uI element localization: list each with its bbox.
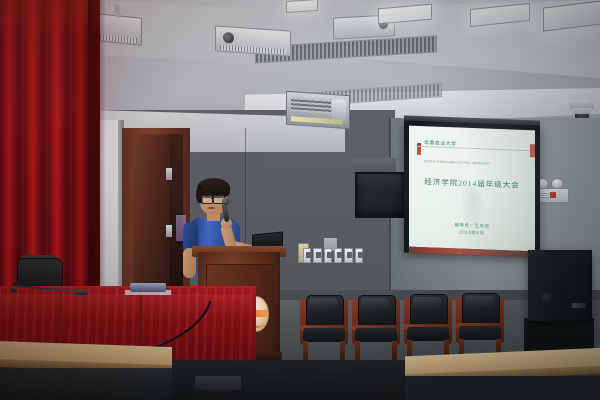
audience-desk-left-body — [0, 368, 172, 400]
floor-equipment-box — [195, 376, 241, 390]
chair-sheen — [361, 298, 389, 310]
list-item[interactable] — [300, 295, 348, 365]
emergency-indicator-icon — [550, 192, 556, 198]
chair-seat — [303, 328, 345, 342]
table-laptop[interactable] — [130, 283, 166, 292]
door-hinge-icon — [166, 168, 172, 180]
chair-sheen — [413, 297, 441, 309]
lecture-hall-photo: 华南农业大学 SOUTH CHINA AGRICULTURAL UNIVERSI… — [0, 0, 600, 400]
chair-sheen — [465, 296, 493, 308]
power-outlet-icon[interactable] — [324, 248, 332, 263]
ceiling-projector-icon-2 — [215, 25, 291, 56]
ac-louvers — [291, 97, 331, 114]
chair-seat — [355, 328, 397, 342]
slide-logo: 华南农业大学 SOUTH CHINA AGRICULTURAL UNIVERSI… — [417, 131, 491, 170]
slide-title: 经济学院2014届年级大会 — [409, 176, 535, 192]
presenter-mouth — [208, 207, 215, 209]
drape-highlight — [0, 294, 250, 320]
loudspeaker-grille — [528, 250, 568, 320]
glasses-icon — [201, 195, 213, 204]
chair-seat — [459, 326, 501, 340]
power-outlet-icon[interactable] — [344, 248, 352, 263]
glasses-bridge — [211, 198, 214, 199]
logo-mark-icon — [417, 143, 421, 155]
ceiling-light-icon-4 — [286, 0, 318, 13]
table-microphone-icon — [10, 288, 17, 292]
curtain-glow — [0, 0, 130, 200]
monitor-glare — [357, 174, 401, 186]
loudspeaker-badge — [572, 303, 586, 308]
projection-screen[interactable]: 华南农业大学 SOUTH CHINA AGRICULTURAL UNIVERSI… — [409, 126, 535, 252]
chair-seat — [407, 327, 449, 341]
loudspeaker-woofer-icon — [540, 292, 554, 306]
wall-outlet-row[interactable] — [303, 248, 363, 261]
power-outlet-icon[interactable] — [303, 248, 311, 263]
slide-accent-bar — [530, 144, 535, 157]
power-outlet-icon[interactable] — [355, 248, 363, 263]
chair-sheen — [309, 298, 337, 310]
air-conditioner-icon — [286, 91, 350, 129]
slide-logo-subtext: SOUTH CHINA AGRICULTURAL UNIVERSITY — [424, 159, 491, 166]
audience-desk-right-body — [405, 376, 600, 400]
power-outlet-icon[interactable] — [334, 248, 342, 263]
list-item[interactable] — [404, 294, 452, 364]
power-outlet-icon[interactable] — [313, 248, 321, 263]
side-door[interactable] — [133, 134, 169, 296]
projector-lens-icon — [223, 32, 234, 44]
loudspeaker-side-panel — [566, 250, 590, 320]
list-item[interactable] — [352, 295, 400, 365]
door-hinge-icon — [166, 225, 172, 237]
microphone-capsule-icon — [222, 198, 229, 205]
